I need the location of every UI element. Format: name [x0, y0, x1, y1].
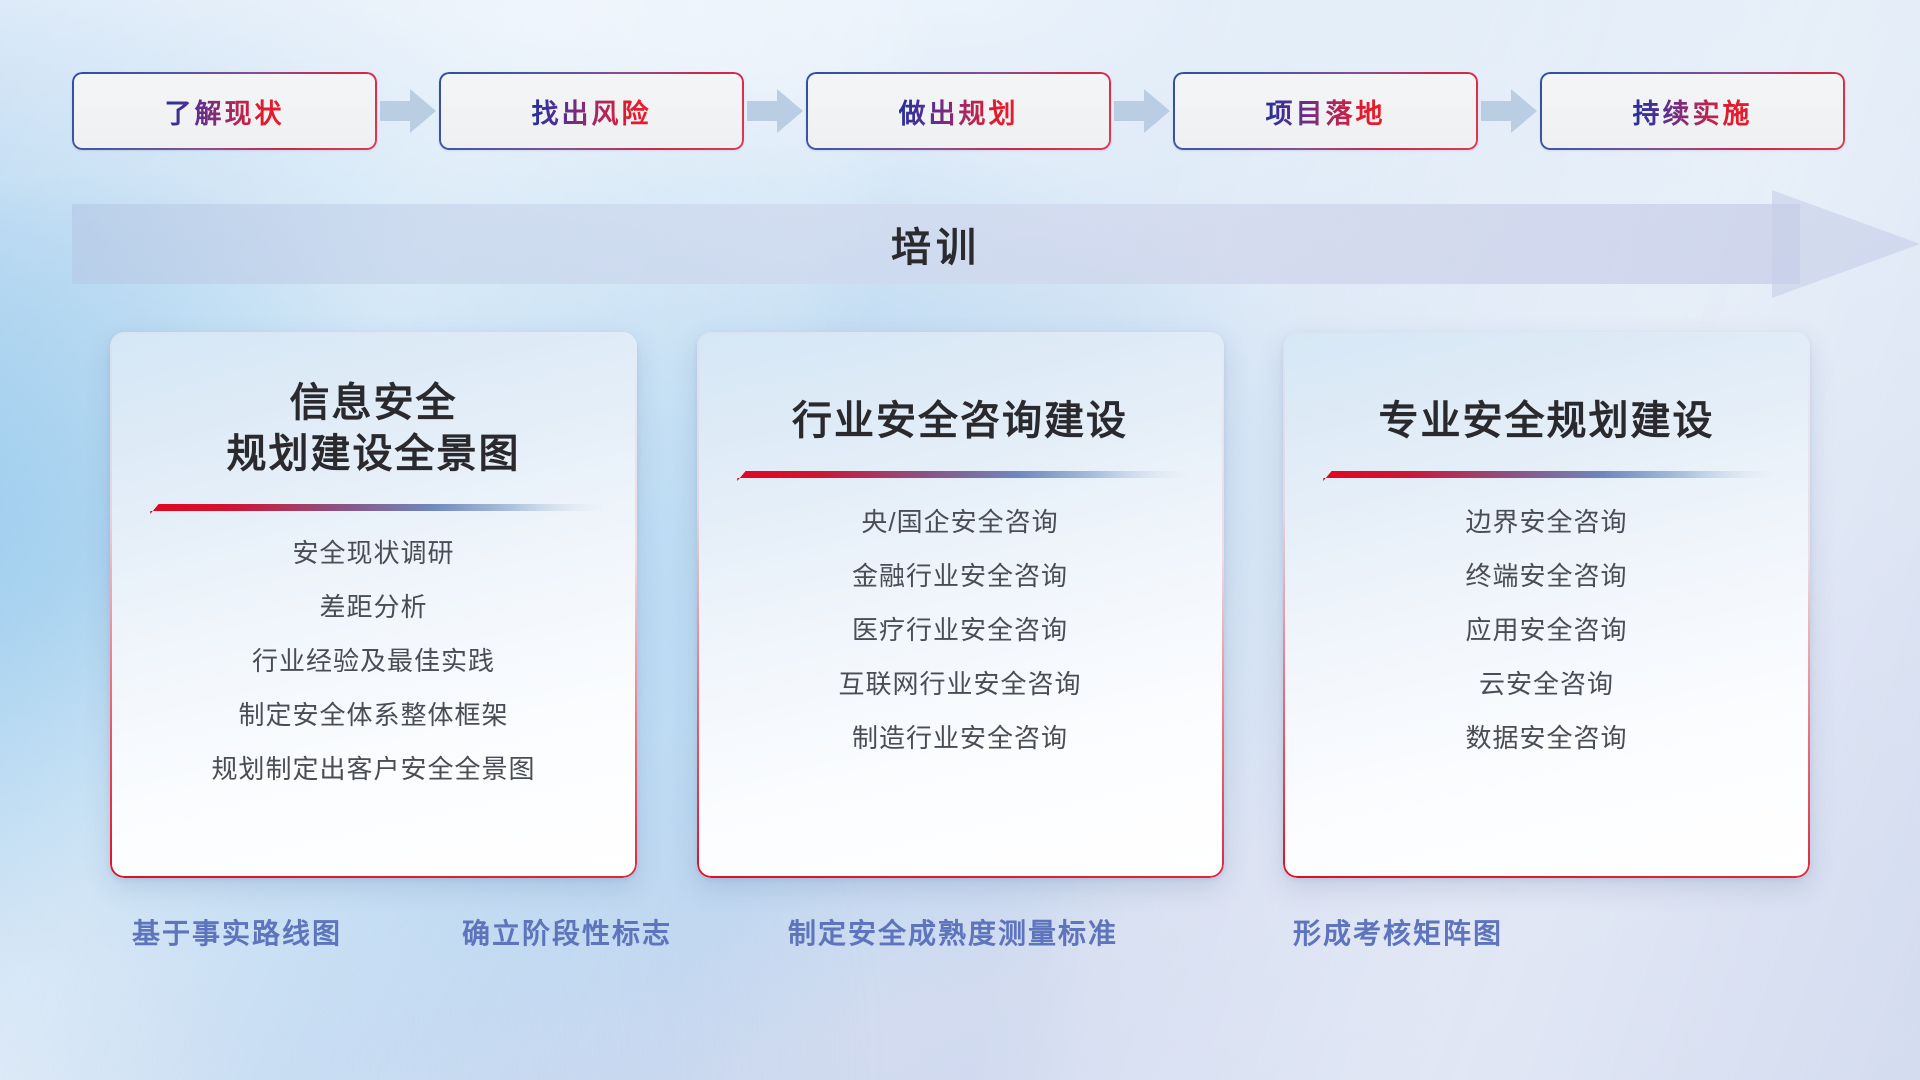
- caption-row: 基于事实路线图 确立阶段性标志 制定安全成熟度测量标准 形成考核矩阵图: [0, 912, 1920, 972]
- caption-0: 基于事实路线图: [132, 912, 342, 952]
- arrow-right-icon: [1478, 80, 1540, 142]
- caption-3: 形成考核矩阵图: [1293, 912, 1503, 952]
- card-divider: [110, 502, 637, 514]
- training-band: 培训: [72, 204, 1848, 284]
- list-item: 制造行业安全咨询: [723, 725, 1198, 751]
- arrow-right-icon: [377, 80, 439, 142]
- card-title-line: 规划建设全景图: [144, 429, 603, 480]
- slide-stage: 了解现状 找出风险 做出规划 项目落地: [0, 0, 1920, 1080]
- process-step-row: 了解现状 找出风险 做出规划 项目落地: [72, 72, 1848, 150]
- process-step-label: 找出风险: [532, 92, 652, 131]
- list-item: 终端安全咨询: [1309, 563, 1784, 589]
- card-item-list: 边界安全咨询 终端安全咨询 应用安全咨询 云安全咨询 数据安全咨询: [1283, 481, 1810, 751]
- process-step-0[interactable]: 了解现状: [72, 72, 377, 150]
- list-item: 规划制定出客户安全全景图: [136, 756, 611, 782]
- process-step-1[interactable]: 找出风险: [439, 72, 744, 150]
- card-divider: [697, 469, 1224, 481]
- caption-1: 确立阶段性标志: [462, 912, 672, 952]
- process-step-2[interactable]: 做出规划: [806, 72, 1111, 150]
- process-step-label: 持续实施: [1633, 92, 1753, 131]
- card-title-line: 信息安全: [144, 378, 603, 429]
- list-item: 应用安全咨询: [1309, 617, 1784, 643]
- list-item: 医疗行业安全咨询: [723, 617, 1198, 643]
- card-professional-security-planning[interactable]: 专业安全规划建设: [1283, 332, 1810, 878]
- card-item-list: 央/国企安全咨询 金融行业安全咨询 医疗行业安全咨询 互联网行业安全咨询 制造行…: [697, 481, 1224, 751]
- card-title: 行业安全咨询建设: [697, 332, 1224, 447]
- caption-2: 制定安全成熟度测量标准: [788, 912, 1118, 952]
- card-title: 专业安全规划建设: [1283, 332, 1810, 447]
- process-step-3[interactable]: 项目落地: [1173, 72, 1478, 150]
- process-step-label: 了解现状: [165, 92, 285, 131]
- card-title-line: 行业安全咨询建设: [731, 396, 1190, 447]
- card-divider: [1283, 469, 1810, 481]
- process-step-label: 做出规划: [899, 92, 1019, 131]
- process-step-4[interactable]: 持续实施: [1540, 72, 1845, 150]
- list-item: 边界安全咨询: [1309, 509, 1784, 535]
- training-band-title: 培训: [72, 204, 1800, 284]
- arrow-right-icon: [1111, 80, 1173, 142]
- card-info-security-panorama[interactable]: 信息安全 规划建设全景图: [110, 332, 637, 878]
- card-row: 信息安全 规划建设全景图: [110, 332, 1810, 888]
- list-item: 行业经验及最佳实践: [136, 648, 611, 674]
- card-title-line: 专业安全规划建设: [1317, 396, 1776, 447]
- arrow-right-icon: [744, 80, 806, 142]
- list-item: 制定安全体系整体框架: [136, 702, 611, 728]
- list-item: 数据安全咨询: [1309, 725, 1784, 751]
- list-item: 互联网行业安全咨询: [723, 671, 1198, 697]
- list-item: 央/国企安全咨询: [723, 509, 1198, 535]
- card-title: 信息安全 规划建设全景图: [110, 332, 637, 480]
- card-industry-security-consulting[interactable]: 行业安全咨询建设: [697, 332, 1224, 878]
- process-step-label: 项目落地: [1266, 92, 1386, 131]
- list-item: 安全现状调研: [136, 540, 611, 566]
- list-item: 金融行业安全咨询: [723, 563, 1198, 589]
- card-item-list: 安全现状调研 差距分析 行业经验及最佳实践 制定安全体系整体框架 规划制定出客户…: [110, 514, 637, 782]
- list-item: 云安全咨询: [1309, 671, 1784, 697]
- list-item: 差距分析: [136, 594, 611, 620]
